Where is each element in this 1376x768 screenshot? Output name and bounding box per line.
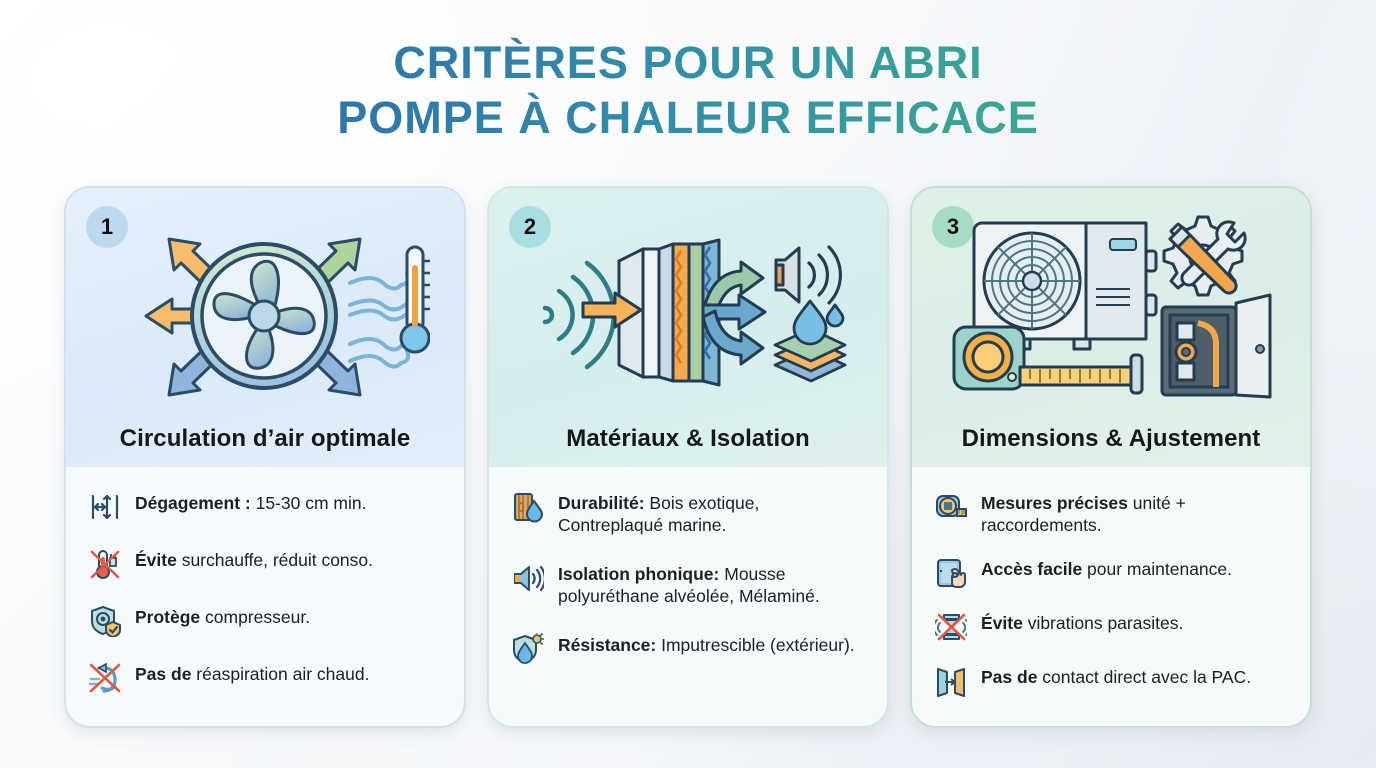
card-2-title: Matériaux & Isolation <box>489 425 887 453</box>
card-3-bullet-list: Mesures précises unité + raccordements. <box>934 489 1292 698</box>
list-item: Résistance: Imputrescible (extérieur). <box>511 631 869 666</box>
bullet-strong: Accès facile <box>981 559 1082 579</box>
bullet-rest: contact direct avec la PAC. <box>1037 667 1251 687</box>
clearance-dimension-icon <box>88 490 122 524</box>
title-line-2: POMPE À CHALEUR EFFICACE <box>0 91 1376 146</box>
bullet-rest: Imputrescible (extérieur). <box>656 635 854 655</box>
fan-airflow-thermometer-illustration <box>66 206 464 420</box>
bullet-text: Mesures précises unité + raccordements. <box>981 489 1292 536</box>
card-1-body: Dégagement : 15-30 cm min. <box>66 467 464 695</box>
card-1-title: Circulation d’air optimale <box>66 425 464 453</box>
list-item: Protège compresseur. <box>88 603 446 638</box>
no-hot-air-recirculation-icon <box>88 661 122 695</box>
page-title: CRITÈRES POUR UN ABRI POMPE À CHALEUR EF… <box>0 36 1376 146</box>
title-line-1: CRITÈRES POUR UN ABRI <box>0 36 1376 91</box>
card-1-bullet-list: Dégagement : 15-30 cm min. <box>88 489 446 695</box>
heat-pump-tools-tape-measure-door-illustration <box>912 206 1310 420</box>
bullet-rest: 15-30 cm min. <box>251 493 367 513</box>
bullet-text: Protège compresseur. <box>135 603 310 628</box>
bullet-text: Évite vibrations parasites. <box>981 609 1183 634</box>
shield-water-sun-icon <box>511 632 545 666</box>
bullet-strong: Pas de <box>135 664 191 684</box>
list-item: Durabilité: Bois exotique, Contreplaqué … <box>511 489 869 536</box>
bullet-text: Pas de contact direct avec la PAC. <box>981 663 1251 688</box>
criteria-card-2[interactable]: 2 <box>487 186 889 728</box>
list-item: Pas de contact direct avec la PAC. <box>934 663 1292 698</box>
card-2-header: 2 <box>489 188 887 467</box>
card-1-header: 1 <box>66 188 464 467</box>
bullet-strong: Dégagement : <box>135 493 251 513</box>
bullet-text: Accès facile pour maintenance. <box>981 555 1232 580</box>
bullet-text: Dégagement : 15-30 cm min. <box>135 489 366 514</box>
bullet-strong: Pas de <box>981 667 1037 687</box>
list-item: Évite surchauffe, réduit conso. <box>88 546 446 581</box>
bullet-text: Pas de réaspiration air chaud. <box>135 660 369 685</box>
insulation-layers-soundwaves-illustration <box>489 206 887 420</box>
speaker-soundwave-icon <box>511 561 545 595</box>
bullet-strong: Mesures précises <box>981 493 1128 513</box>
bullet-strong: Évite <box>135 550 177 570</box>
list-item: Accès facile pour maintenance. <box>934 555 1292 590</box>
bullet-rest: vibrations parasites. <box>1023 613 1184 633</box>
no-direct-contact-icon <box>934 664 968 698</box>
bullet-rest: pour maintenance. <box>1082 559 1232 579</box>
access-panel-hand-icon <box>934 556 968 590</box>
bullet-text: Résistance: Imputrescible (extérieur). <box>558 631 855 656</box>
card-3-body: Mesures précises unité + raccordements. <box>912 467 1310 698</box>
bullet-strong: Résistance: <box>558 635 656 655</box>
bullet-rest: surchauffe, réduit conso. <box>177 550 373 570</box>
criteria-cards: 1 <box>64 186 1312 728</box>
bullet-text: Isolation phonique: Mousse polyuréthane … <box>558 560 869 607</box>
card-2-bullet-list: Durabilité: Bois exotique, Contreplaqué … <box>511 489 869 666</box>
bullet-text: Durabilité: Bois exotique, Contreplaqué … <box>558 489 869 536</box>
bullet-rest: compresseur. <box>200 607 310 627</box>
bullet-strong: Protège <box>135 607 200 627</box>
criteria-card-1[interactable]: 1 <box>64 186 466 728</box>
list-item: Mesures précises unité + raccordements. <box>934 489 1292 536</box>
no-vibration-icon <box>934 610 968 644</box>
tape-measure-icon <box>934 490 968 524</box>
shield-gear-icon <box>88 604 122 638</box>
no-overheating-icon <box>88 547 122 581</box>
bullet-rest: réaspiration air chaud. <box>191 664 369 684</box>
bullet-strong: Durabilité: <box>558 493 645 513</box>
bullet-strong: Évite <box>981 613 1023 633</box>
card-3-header: 3 <box>912 188 1310 467</box>
wood-water-drop-icon <box>511 490 545 524</box>
criteria-card-3[interactable]: 3 <box>910 186 1312 728</box>
bullet-text: Évite surchauffe, réduit conso. <box>135 546 373 571</box>
list-item: Pas de réaspiration air chaud. <box>88 660 446 695</box>
card-2-body: Durabilité: Bois exotique, Contreplaqué … <box>489 467 887 666</box>
list-item: Dégagement : 15-30 cm min. <box>88 489 446 524</box>
card-3-title: Dimensions & Ajustement <box>912 425 1310 453</box>
bullet-strong: Isolation phonique: <box>558 564 719 584</box>
list-item: Évite vibrations parasites. <box>934 609 1292 644</box>
list-item: Isolation phonique: Mousse polyuréthane … <box>511 560 869 607</box>
